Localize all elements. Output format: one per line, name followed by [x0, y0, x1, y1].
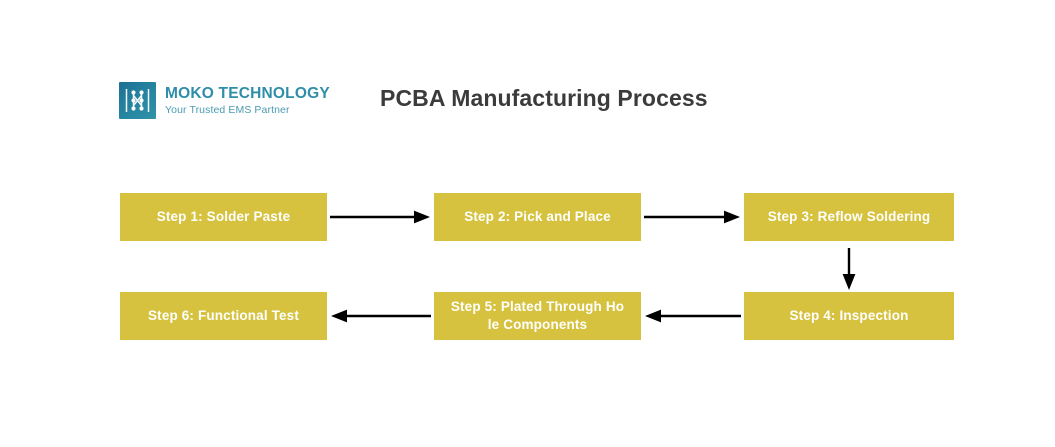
- company-tagline: Your Trusted EMS Partner: [165, 105, 330, 116]
- flow-step-label: Step 4: Inspection: [790, 307, 909, 325]
- flow-step-5[interactable]: Step 5: Plated Through Ho le Components: [434, 292, 641, 340]
- flow-step-label: Step 5: Plated Through Ho le Components: [451, 298, 624, 334]
- flow-step-label: Step 6: Functional Test: [148, 307, 299, 325]
- page-title: PCBA Manufacturing Process: [380, 85, 708, 112]
- diagram-canvas: MOKO TECHNOLOGY Your Trusted EMS Partner…: [0, 0, 1055, 447]
- arrow-right-icon-step1-to-step2: [330, 206, 430, 228]
- flow-step-1[interactable]: Step 1: Solder Paste: [120, 193, 327, 241]
- flow-step-label: Step 1: Solder Paste: [157, 208, 291, 226]
- arrow-down-icon-step3-to-step4: [838, 248, 860, 290]
- circuit-board-icon: [119, 82, 156, 119]
- flow-step-label: Step 2: Pick and Place: [464, 208, 611, 226]
- flow-step-label: Step 3: Reflow Soldering: [768, 208, 931, 226]
- flow-step-3[interactable]: Step 3: Reflow Soldering: [744, 193, 954, 241]
- flow-step-2[interactable]: Step 2: Pick and Place: [434, 193, 641, 241]
- flow-step-6[interactable]: Step 6: Functional Test: [120, 292, 327, 340]
- arrow-left-icon-step4-to-step5: [645, 305, 741, 327]
- logo-wordmark: MOKO TECHNOLOGY Your Trusted EMS Partner: [165, 86, 330, 116]
- arrow-left-icon-step5-to-step6: [331, 305, 431, 327]
- company-logo: MOKO TECHNOLOGY Your Trusted EMS Partner: [119, 82, 330, 119]
- company-name: MOKO TECHNOLOGY: [165, 86, 330, 102]
- arrow-right-icon-step2-to-step3: [644, 206, 740, 228]
- flow-step-4[interactable]: Step 4: Inspection: [744, 292, 954, 340]
